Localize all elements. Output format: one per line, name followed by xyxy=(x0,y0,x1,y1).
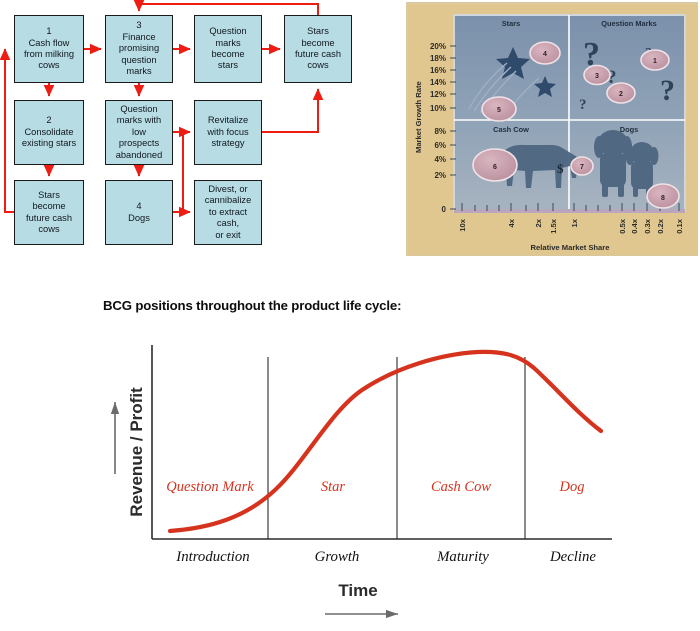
svg-text:?: ? xyxy=(579,97,587,113)
stage-label-maturity: Maturity xyxy=(436,549,489,565)
lifecycle-svg: Question Mark Star Cash Cow Dog Introduc… xyxy=(0,262,700,631)
revenue-profit-curve xyxy=(170,352,601,531)
bcg-xtick-1: 4x xyxy=(507,218,516,227)
flow-box-dogs[interactable]: 4 Dogs xyxy=(105,180,173,245)
flow-box-stars-become-future-cash-cows-right[interactable]: Stars become future cash cows xyxy=(284,15,352,83)
bcg-ytick-0: 20% xyxy=(430,42,446,51)
bcg-ytick-4: 12% xyxy=(430,90,446,99)
bcg-matrix-svg: 20% 18% 16% 14% 12% 10% 8% 6% 4% 2% 0 Ma… xyxy=(407,3,698,256)
bcg-bubble-4[interactable]: 4 xyxy=(530,42,560,64)
bcg-y-axis-title: Market Growth Rate xyxy=(414,81,423,153)
bcg-ytick-9: 2% xyxy=(434,171,446,180)
bcg-bubble-7[interactable]: 7 xyxy=(571,157,593,175)
bcg-xtick-2: 2x xyxy=(534,218,543,227)
bcg-strategy-flowchart: 1 Cash flow from milking cows 2 Consolid… xyxy=(0,0,400,262)
flow-box-stars-become-future-cash-cows-left[interactable]: Stars become future cash cows xyxy=(14,180,84,245)
svg-text:?: ? xyxy=(660,74,675,107)
bcg-xtick-4: 1x xyxy=(570,218,579,227)
flow-box-revitalize-with-focus-strategy[interactable]: Revitalize with focus strategy xyxy=(194,100,262,165)
bcg-bubble-label-5: 5 xyxy=(497,107,501,114)
bcg-ytick-3: 14% xyxy=(430,78,446,87)
x-axis-title: Time xyxy=(338,581,377,600)
bcg-bubble-8[interactable]: 8 xyxy=(647,184,679,208)
flow-box-question-marks-low-prospects[interactable]: Question marks with low prospects abando… xyxy=(105,100,173,165)
bcg-bubble-label-7: 7 xyxy=(580,164,584,171)
bcg-bubble-label-4: 4 xyxy=(543,51,547,58)
bcg-ytick-2: 16% xyxy=(430,66,446,75)
bcg-xtick-3: 1.5x xyxy=(549,218,558,234)
bcg-xtick-9: 0.1x xyxy=(675,218,684,234)
flow-box-divest-or-cannibalize[interactable]: Divest, or cannibalize to extract cash, … xyxy=(194,180,262,245)
bcg-bubble-2[interactable]: 2 xyxy=(607,83,635,103)
bcg-bubble-label-3: 3 xyxy=(595,73,599,80)
bcg-quadrant-cash-cow: Cash Cow xyxy=(493,125,529,134)
bcg-xtick-8: 0.2x xyxy=(656,218,665,234)
bcg-bubble-5[interactable]: 5 xyxy=(482,97,516,121)
bcg-bubble-3[interactable]: 3 xyxy=(584,66,610,85)
y-axis-title: Revenue / Profit xyxy=(127,387,146,517)
stage-label-growth: Growth xyxy=(315,549,360,565)
bcg-bubble-label-8: 8 xyxy=(661,195,665,202)
bcg-bubble-label-2: 2 xyxy=(619,91,623,98)
bcg-quadrant-stars: Stars xyxy=(502,19,521,28)
bcg-xtick-6: 0.4x xyxy=(630,218,639,234)
bcg-bubble-6[interactable]: 6 xyxy=(473,149,517,181)
bcg-ytick-8: 4% xyxy=(434,155,446,164)
bcg-matrix-image: 20% 18% 16% 14% 12% 10% 8% 6% 4% 2% 0 Ma… xyxy=(406,2,698,256)
flow-box-cash-flow-milking-cows[interactable]: 1 Cash flow from milking cows xyxy=(14,15,84,83)
stage-label-decline: Decline xyxy=(549,549,596,565)
bcg-xtick-5: 0.5x xyxy=(618,218,627,234)
bcg-bubble-1[interactable]: 1 xyxy=(641,50,669,70)
bcg-ytick-7: 6% xyxy=(434,141,446,150)
phase-label-cash-cow: Cash Cow xyxy=(431,479,491,495)
bcg-ytick-6: 8% xyxy=(434,127,446,136)
bcg-x-axis-title: Relative Market Share xyxy=(531,243,610,252)
bcg-ytick-5: 10% xyxy=(430,104,446,113)
phase-label-question-mark: Question Mark xyxy=(166,479,254,495)
bcg-quadrant-dogs: Dogs xyxy=(620,125,638,134)
flow-box-finance-promising-question-marks[interactable]: 3 Finance promising question marks xyxy=(105,15,173,83)
bcg-ytick-1: 18% xyxy=(430,54,446,63)
bcg-xtick-0: 10x xyxy=(458,218,467,231)
phase-label-star: Star xyxy=(321,479,346,495)
flow-box-question-marks-become-stars[interactable]: Question marks become stars xyxy=(194,15,262,83)
dollar-icon: $ xyxy=(557,161,564,176)
phase-label-dog: Dog xyxy=(559,479,585,495)
product-life-cycle-chart: BCG positions throughout the product lif… xyxy=(0,262,700,631)
stage-label-introduction: Introduction xyxy=(175,549,249,565)
flow-box-consolidate-existing-stars[interactable]: 2 Consolidate existing stars xyxy=(14,100,84,165)
bcg-ytick-10: 0 xyxy=(442,205,447,214)
bcg-bubble-label-1: 1 xyxy=(653,58,657,65)
bcg-bubble-label-6: 6 xyxy=(493,164,497,171)
bcg-quadrant-question-marks: Question Marks xyxy=(601,19,656,28)
bcg-xtick-7: 0.3x xyxy=(643,218,652,234)
